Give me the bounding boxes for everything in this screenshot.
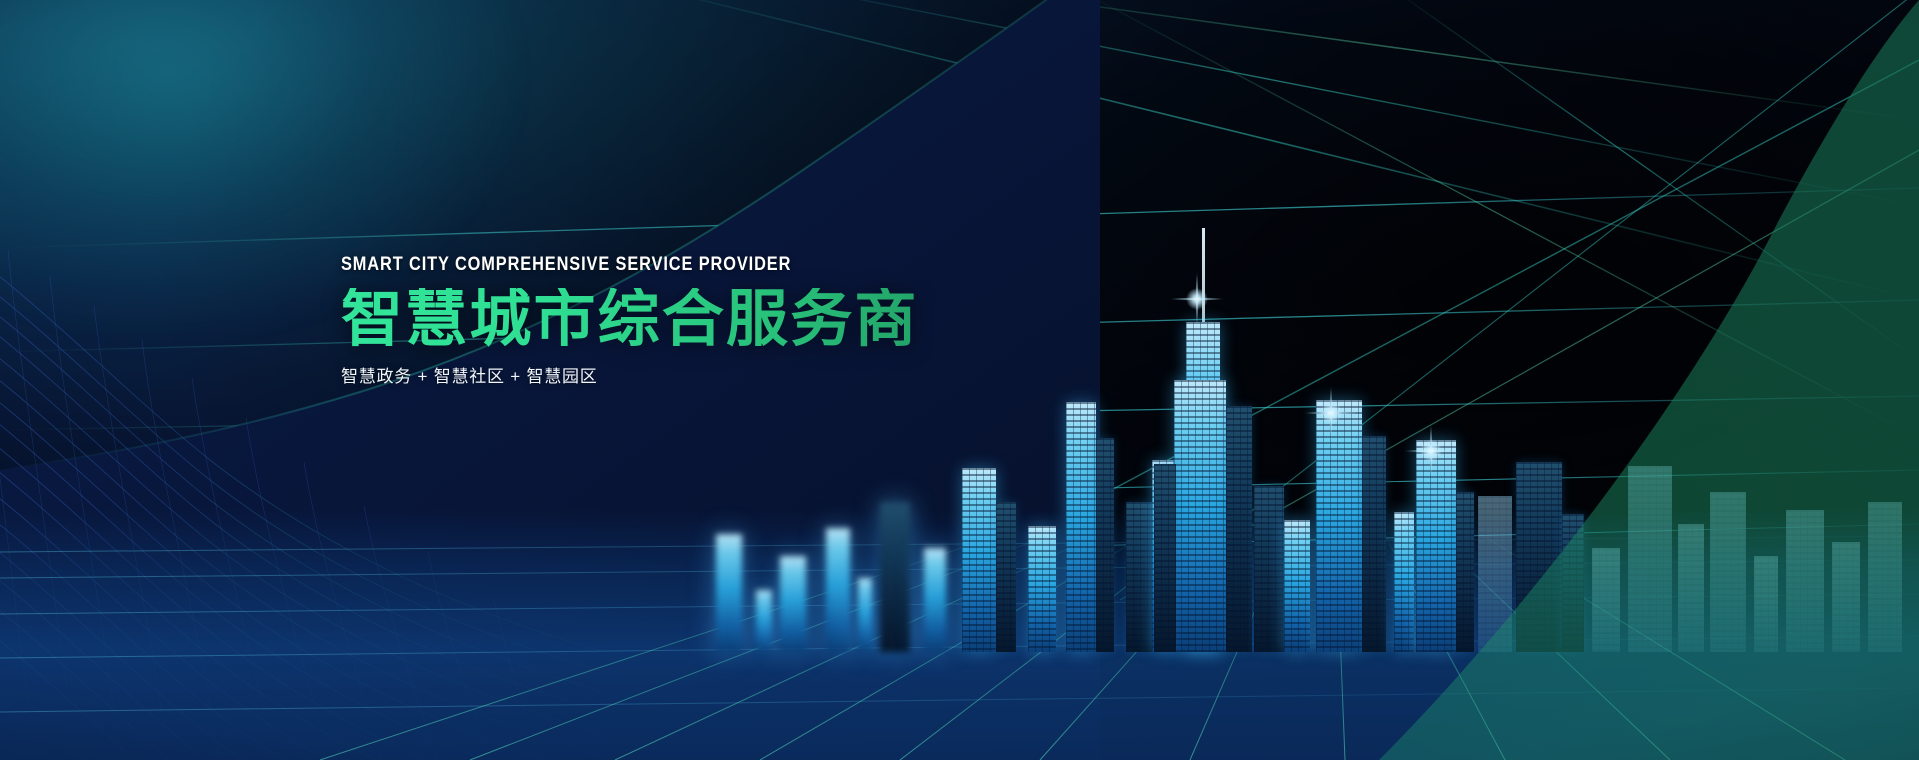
green-corner-wedge [1219, 0, 1919, 760]
banner-subline: 智慧政务 + 智慧社区 + 智慧园区 [341, 368, 1101, 385]
hero-banner: SMART CITY COMPREHENSIVE SERVICE PROVIDE… [0, 0, 1919, 760]
banner-copy: SMART CITY COMPREHENSIVE SERVICE PROVIDE… [341, 255, 1101, 385]
banner-eyebrow: SMART CITY COMPREHENSIVE SERVICE PROVIDE… [341, 255, 995, 274]
banner-headline: 智慧城市综合服务商 [341, 288, 1101, 352]
